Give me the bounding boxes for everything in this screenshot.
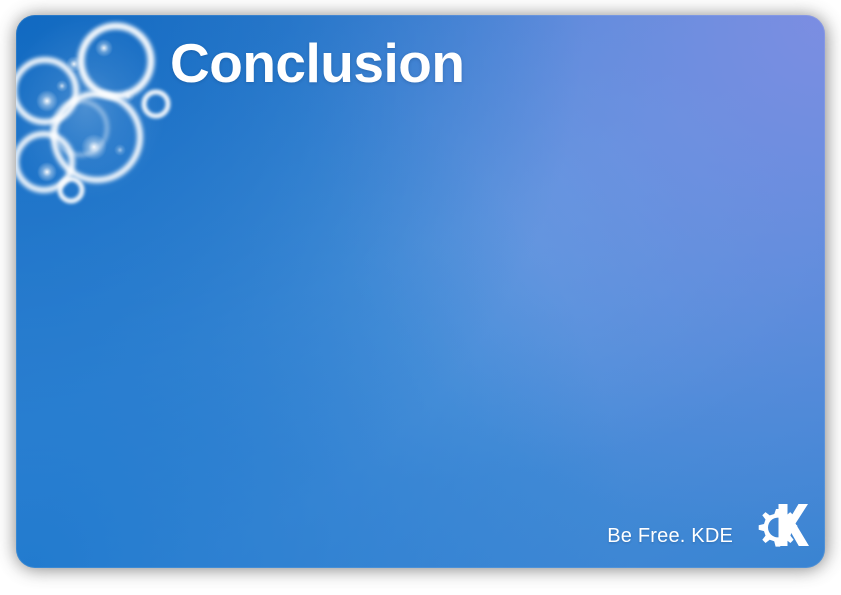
presentation-stage: Conclusion Be Free. KDE <box>0 0 841 595</box>
slide-title: Conclusion <box>170 32 464 95</box>
presentation-slide[interactable]: Conclusion Be Free. KDE <box>16 15 825 568</box>
kde-gear-logo <box>745 500 811 562</box>
footer-tagline: Be Free. KDE <box>607 525 733 548</box>
slide-content-area <box>76 125 765 478</box>
